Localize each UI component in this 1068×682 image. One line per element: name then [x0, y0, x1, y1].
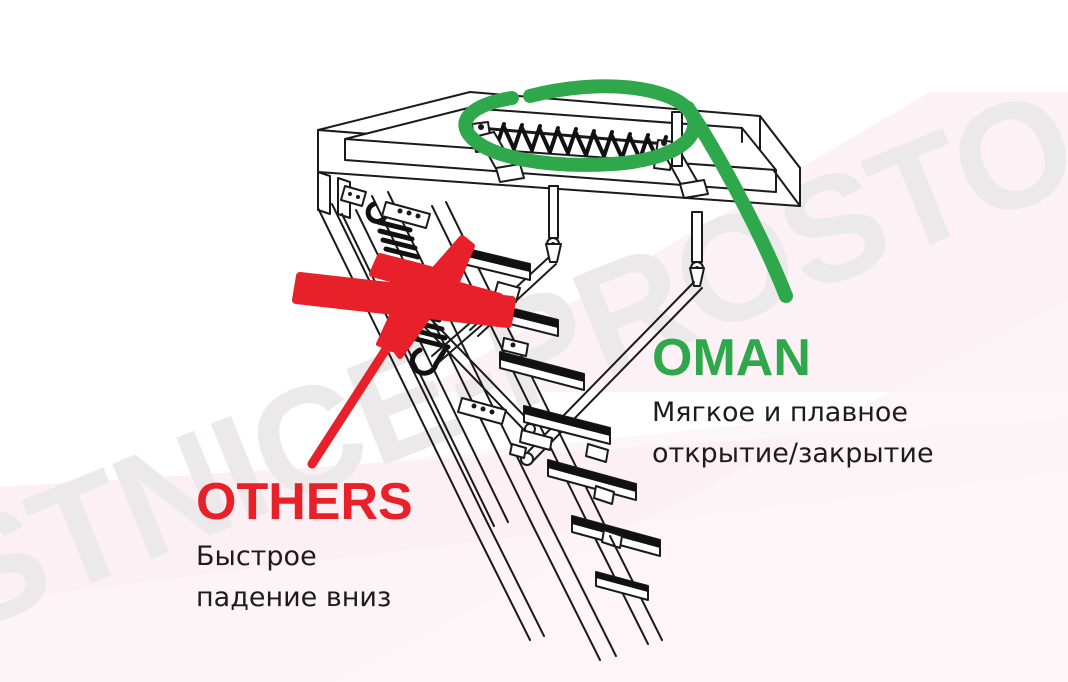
callout-oman: OMAN Мягкое и плавное открытие/закрытие: [652, 330, 982, 474]
others-description: Быстрое падение вниз: [196, 536, 526, 618]
oman-description: Мягкое и плавное открытие/закрытие: [652, 392, 982, 474]
oman-title: OMAN: [652, 330, 982, 386]
callout-others: OTHERS Быстрое падение вниз: [196, 474, 526, 618]
infographic-canvas: LESTNICE-PROSTO.RU: [0, 0, 1068, 682]
others-title: OTHERS: [196, 474, 526, 530]
